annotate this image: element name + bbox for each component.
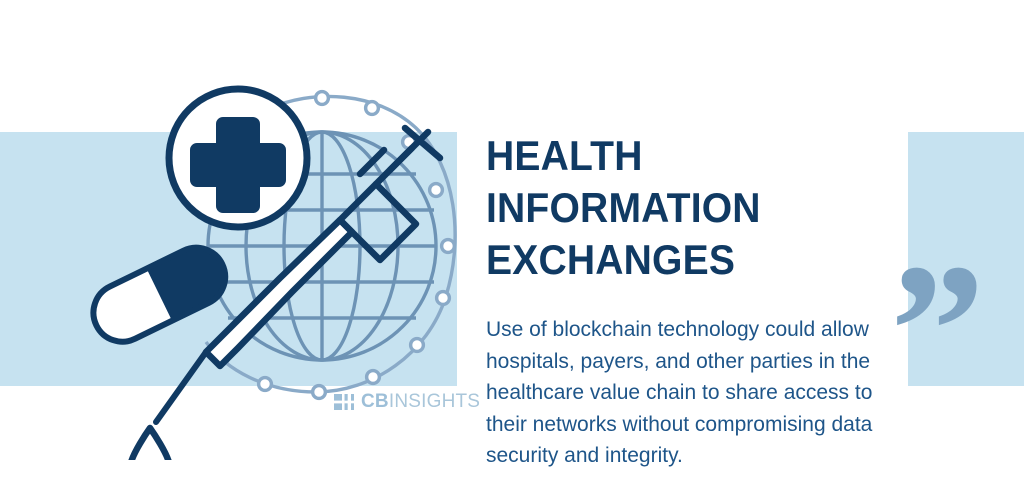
- droplet-icon: [130, 428, 170, 460]
- cb-insights-logo-mark: [334, 394, 354, 410]
- body-paragraph: Use of blockchain technology could allow…: [486, 286, 886, 472]
- infographic-canvas: ”: [0, 0, 1024, 490]
- cb-insights-logo: CBINSIGHTS: [334, 392, 480, 411]
- logo-bold-text: CB: [361, 391, 389, 412]
- medical-cross-circle-icon: [169, 89, 307, 227]
- pill-capsule-icon: [84, 238, 235, 352]
- cb-insights-logo-text: CBINSIGHTS: [361, 392, 480, 411]
- logo-light-text: INSIGHTS: [389, 391, 480, 412]
- text-column: HEALTH INFORMATION EXCHANGES Use of bloc…: [486, 130, 896, 472]
- quotation-mark-icon: ”: [890, 236, 1000, 376]
- page-title: HEALTH INFORMATION EXCHANGES: [486, 130, 867, 286]
